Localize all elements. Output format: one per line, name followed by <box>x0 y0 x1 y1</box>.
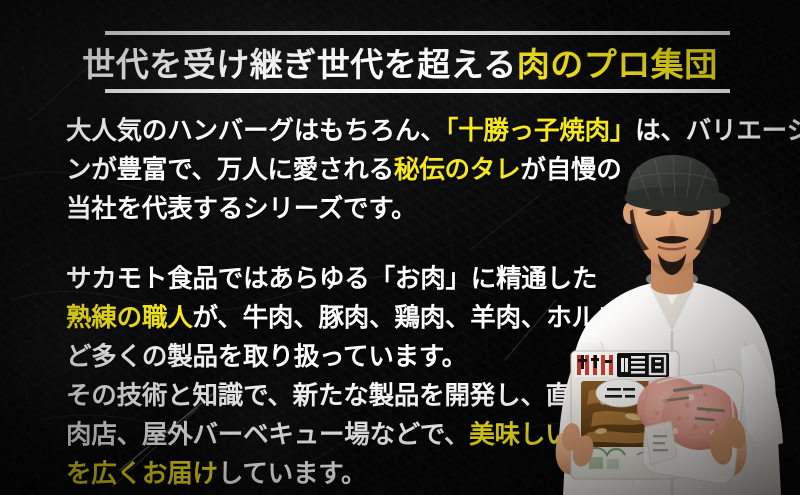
promo-banner: 世代を受け継ぎ世代を超える肉のプロ集団 大人気のハンバーグはもちろん、「十勝っ子… <box>0 0 800 495</box>
vignette-overlay <box>0 0 800 495</box>
